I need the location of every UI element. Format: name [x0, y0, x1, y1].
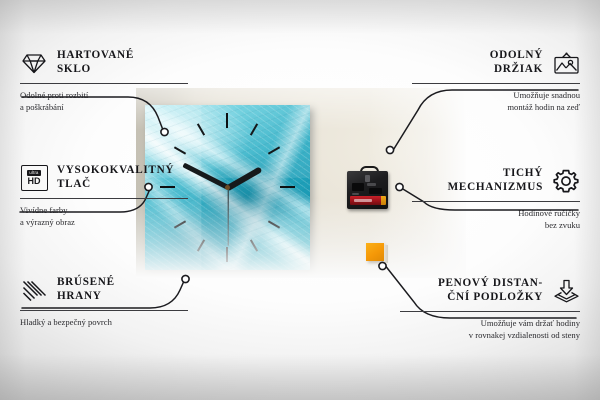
- feature-title: PENOVÝ DISTAN- ČNÍ PODLOŽKY: [438, 277, 543, 304]
- feature-silent-mechanism: TICHÝ MECHANIZMUS Hodinové ručičky bez z…: [412, 166, 580, 231]
- foam-spacer-pad-side: [384, 245, 388, 263]
- feature-header: ultra HD VYSOKOKVALITNÝ TLAČ: [20, 163, 188, 193]
- hd-badge: ultra HD: [21, 165, 48, 191]
- feature-durable-hanger: ODOLNÝ DRŽIAK Umožňuje snadnou montáž ho…: [412, 48, 580, 113]
- mechanism-shaft: [365, 175, 370, 182]
- foam-spacer-pad: [366, 243, 384, 261]
- feature-rule: [412, 83, 580, 84]
- feature-header: HARTOVANÉ SKLO: [20, 48, 188, 78]
- feature-title: VYSOKOKVALITNÝ TLAČ: [57, 164, 174, 191]
- feature-rule: [400, 311, 580, 312]
- mechanism-detail-3: [369, 188, 382, 194]
- feature-description: Umožňuje vám držať hodiny v rovnakej vzd…: [400, 317, 580, 341]
- feature-header: PENOVÝ DISTAN- ČNÍ PODLOŽKY: [400, 276, 580, 306]
- feature-high-quality-print: ultra HD VYSOKOKVALITNÝ TLAČ Vivídne far…: [20, 163, 188, 228]
- feature-header: ODOLNÝ DRŽIAK: [412, 48, 580, 78]
- feature-rule: [412, 201, 580, 202]
- picture-frame-hanger-icon: [552, 50, 580, 76]
- mechanism-detail-1: [352, 183, 364, 191]
- feature-description: Odolné proti rozbití a poškrábání: [20, 89, 188, 113]
- arrow-down-layers-icon: [552, 278, 580, 304]
- feature-header: TICHÝ MECHANIZMUS: [412, 166, 580, 196]
- feature-title: TICHÝ MECHANIZMUS: [448, 167, 543, 194]
- feature-description: Umožňuje snadnou montáž hodin na zeď: [412, 89, 580, 113]
- clock-mechanism: [347, 171, 388, 209]
- gear-icon: [552, 168, 580, 194]
- feature-description: Vivídne farby a výrazný obraz: [20, 204, 188, 228]
- feature-description: Hodinové ručičky bez zvuku: [412, 207, 580, 231]
- feature-rule: [20, 83, 188, 84]
- feature-title: BRÚSENÉ HRANY: [57, 276, 115, 303]
- feature-foam-spacers: PENOVÝ DISTAN- ČNÍ PODLOŽKY Umožňuje vám…: [400, 276, 580, 341]
- ultra-hd-badge-icon: ultra HD: [20, 165, 48, 191]
- battery-terminal: [381, 196, 386, 205]
- feature-description: Hladký a bezpečný povrch: [20, 316, 188, 328]
- mechanism-detail-2: [367, 183, 376, 186]
- feature-beveled-edges: BRÚSENÉ HRANY Hladký a bezpečný povrch: [20, 275, 188, 328]
- beveled-edges-icon: [20, 277, 48, 303]
- diamond-icon: [20, 50, 48, 76]
- feature-title: HARTOVANÉ SKLO: [57, 49, 134, 76]
- mechanism-detail-4: [352, 193, 359, 195]
- feature-title: ODOLNÝ DRŽIAK: [490, 49, 543, 76]
- hd-badge-main: HD: [28, 177, 41, 186]
- feature-rule: [20, 198, 188, 199]
- feature-rule: [20, 310, 188, 311]
- feature-hardened-glass: HARTOVANÉ SKLO Odolné proti rozbití a po…: [20, 48, 188, 113]
- infographic-page: HARTOVANÉ SKLO Odolné proti rozbití a po…: [0, 0, 600, 400]
- battery-label: [354, 199, 372, 202]
- feature-header: BRÚSENÉ HRANY: [20, 275, 188, 305]
